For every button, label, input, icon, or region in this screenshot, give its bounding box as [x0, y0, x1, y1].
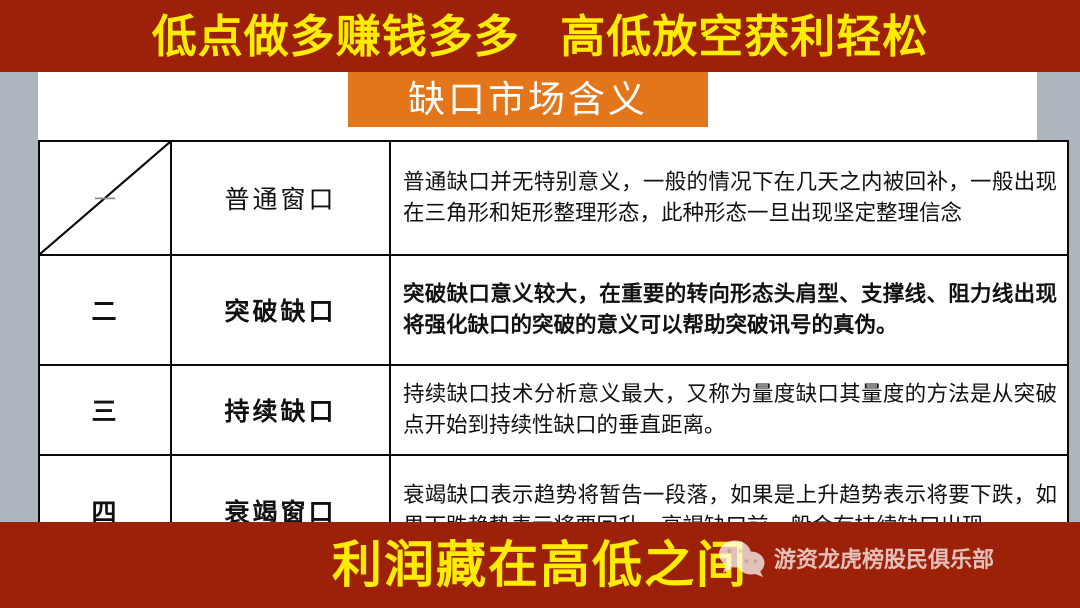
row-description-text: 突破缺口意义较大，在重要的转向形态头肩型、支撑线、阻力线出现将强化缺口的突破的意…: [403, 279, 1057, 340]
title-plaque: 缺口市场含义: [348, 72, 708, 127]
table-row: 一 普通窗口 普通缺口并无特别意义，一般的情况下在几天之内被回补，一般出现在三角…: [39, 141, 1068, 255]
row-index-cell: 三: [39, 365, 171, 455]
row-index-label: 二: [91, 298, 118, 326]
watermark: 游资龙虎榜股民俱乐部: [718, 539, 994, 577]
page-title: 缺口市场含义: [408, 81, 648, 118]
slide-canvas: 低点做多赚钱多多 高低放空获利轻松 缺口市场含义 一 普通窗口 普通缺口并无特别…: [0, 0, 1080, 608]
row-index-cell: 二: [39, 255, 171, 365]
row-index-cell-diagonal: 一: [39, 141, 171, 255]
row-index-label: 三: [91, 398, 118, 426]
gap-types-table: 一 普通窗口 普通缺口并无特别意义，一般的情况下在几天之内被回补，一般出现在三角…: [38, 140, 1069, 568]
table-row: 三 持续缺口 持续缺口技术分析意义最大，又称为量度缺口其量度的方法是从突破点开始…: [39, 365, 1068, 455]
row-description-cell: 持续缺口技术分析意义最大，又称为量度缺口其量度的方法是从突破点开始到持续性缺口的…: [390, 365, 1068, 455]
row-description-cell: 突破缺口意义较大，在重要的转向形态头肩型、支撑线、阻力线出现将强化缺口的突破的意…: [390, 255, 1068, 365]
row-description-text: 普通缺口并无特别意义，一般的情况下在几天之内被回补，一般出现在三角形和矩形整理形…: [403, 167, 1057, 228]
top-banner: 低点做多赚钱多多 高低放空获利轻松: [0, 0, 1080, 72]
row-name-cell: 突破缺口: [171, 255, 390, 365]
row-name-label: 突破缺口: [224, 298, 336, 326]
row-name-cell: 普通窗口: [171, 141, 390, 255]
row-description-cell: 普通缺口并无特别意义，一般的情况下在几天之内被回补，一般出现在三角形和矩形整理形…: [390, 141, 1068, 255]
wechat-icon: [718, 539, 768, 577]
row-name-cell: 持续缺口: [171, 365, 390, 455]
row-description-text: 持续缺口技术分析意义最大，又称为量度缺口其量度的方法是从突破点开始到持续性缺口的…: [403, 379, 1057, 440]
row-name-label: 持续缺口: [224, 398, 336, 426]
row-name-label: 普通窗口: [224, 186, 336, 214]
watermark-label: 游资龙虎榜股民俱乐部: [774, 542, 994, 574]
top-banner-headline: 低点做多赚钱多多 高低放空获利轻松: [152, 14, 929, 59]
table-row: 二 突破缺口 突破缺口意义较大，在重要的转向形态头肩型、支撑线、阻力线出现将强化…: [39, 255, 1068, 365]
row-index-label: 一: [94, 182, 116, 214]
